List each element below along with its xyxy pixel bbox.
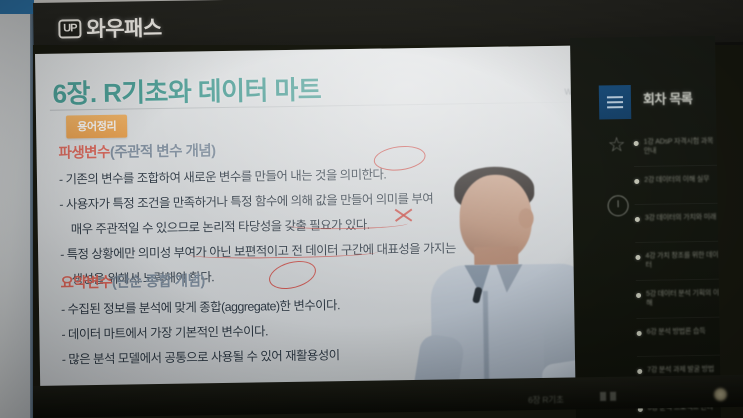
section-2-line-3: - 많은 분석 모델에서 공통으로 사용될 수 있어 재활용성이 <box>62 345 341 367</box>
star-icon[interactable]: ☆ <box>605 133 629 157</box>
section-2-heading-paren: (단순 종합 개념) <box>112 273 205 290</box>
section-1-line-2: - 사용자가 특정 조건을 만족하거나 특정 함수에 의해 값을 만들어 의미를… <box>59 188 455 212</box>
player-status-text: 6장 R기초 <box>528 393 564 406</box>
lesson-label: 1강 ADsP 자격시험 과목안내 <box>644 137 718 156</box>
list-item[interactable]: 4강 가치 창조를 위한 데이터 <box>635 242 720 281</box>
section-2-heading: 요약변수(단순 종합 개념) <box>60 267 339 292</box>
slide-title: 6장. R기초와 데이터 마트 <box>52 70 321 111</box>
bullet-icon <box>637 331 642 336</box>
lecture-slide[interactable]: 6장. R기초와 데이터 마트 용어정리 WOWPASS 파생변수(주관적 변수… <box>35 45 640 394</box>
panel-toggle-button[interactable] <box>599 85 632 119</box>
section-1-line-3: 매우 주관적일 수 있으므로 논리적 타당성을 갖출 필요가 있다. <box>60 213 456 237</box>
slide-section-1: 파생변수(주관적 변수 개념) - 기존의 변수를 조합하여 새로운 변수를 만… <box>58 135 456 287</box>
bullet-icon <box>635 217 640 222</box>
slide-badge: 용어정리 <box>66 115 128 139</box>
up-logo-icon: UP <box>58 19 81 38</box>
next-frame-icon[interactable] <box>610 392 616 401</box>
prev-frame-icon[interactable] <box>600 392 606 401</box>
list-item[interactable]: 5강 데이터 분석 기획의 이해 <box>636 280 721 319</box>
clock-icon-shape <box>607 195 628 216</box>
slide-section-2: 요약변수(단순 종합 개념) - 수집된 정보를 분석에 맞게 종합(aggre… <box>60 267 340 367</box>
lesson-label: 6강 분석 방법론 습득 <box>647 327 706 337</box>
list-item[interactable]: 1강 ADsP 자격시험 과목안내 <box>633 128 718 167</box>
section-1-heading-text: 파생변수 <box>58 145 110 162</box>
player-controls[interactable] <box>600 392 616 401</box>
section-2-line-2: - 데이터 마트에서 가장 기본적인 변수이다. <box>61 320 340 342</box>
section-1-heading-paren: (주관적 변수 개념) <box>110 143 216 161</box>
monitor-bezel-left <box>0 14 33 418</box>
clock-icon[interactable] <box>605 195 629 219</box>
list-item[interactable]: 6강 분석 방법론 습득 <box>636 318 721 357</box>
section-2-heading-text: 요약변수 <box>60 275 112 292</box>
lesson-label: 5강 데이터 분석 기획의 이해 <box>646 289 720 308</box>
brand-name: 와우패스 <box>86 12 162 43</box>
brand-logo[interactable]: UP 와우패스 <box>58 12 162 44</box>
hamburger-line-2 <box>607 101 623 103</box>
list-item[interactable]: 2강 데이터의 이해 실무 <box>634 166 719 205</box>
lesson-list-sidebar: 회차 목록 ☆ 1강 ADsP 자격시험 과목안내 2강 데이터의 이해 실무 … <box>570 36 721 418</box>
instructor-ear <box>518 208 533 228</box>
bullet-icon <box>634 141 639 146</box>
bullet-icon <box>637 369 642 374</box>
bullet-icon <box>636 293 641 298</box>
lesson-label: 2강 데이터의 이해 실무 <box>644 175 709 185</box>
lesson-label: 4강 가치 창조를 위한 데이터 <box>645 251 719 270</box>
bullet-icon <box>635 255 640 260</box>
hamburger-line-1 <box>607 96 623 98</box>
instructor-collar-right <box>496 264 522 292</box>
hamburger-line-3 <box>607 106 623 108</box>
section-1-line-1: - 기존의 변수를 조합하여 새로운 변수를 만들어 내는 것을 의미한다. <box>59 163 455 187</box>
sidebar-title: 회차 목록 <box>643 88 693 108</box>
section-1-line-4: - 특정 상황에만 의미성 부여가 아닌 보편적이고 전 데이터 구간에 대표성… <box>60 238 456 262</box>
list-item[interactable]: 3강 데이터의 가치와 미래 <box>635 204 720 243</box>
ambient-light-reflection <box>714 388 727 401</box>
bullet-icon <box>634 179 639 184</box>
section-2-line-1: - 수집된 정보를 분석에 맞게 종합(aggregate)한 변수이다. <box>61 295 340 317</box>
sidebar-icon-rail: ☆ <box>600 133 639 418</box>
section-1-heading: 파생변수(주관적 변수 개념) <box>58 135 454 162</box>
lesson-label: 3강 데이터의 가치와 미래 <box>645 213 716 223</box>
screen-photo: UP 와우패스 6장. R기초와 데이터 마트 용어정리 WOWPASS 파생변… <box>0 0 743 418</box>
lesson-label: 7강 분석 과제 발굴 방법 <box>647 365 714 375</box>
